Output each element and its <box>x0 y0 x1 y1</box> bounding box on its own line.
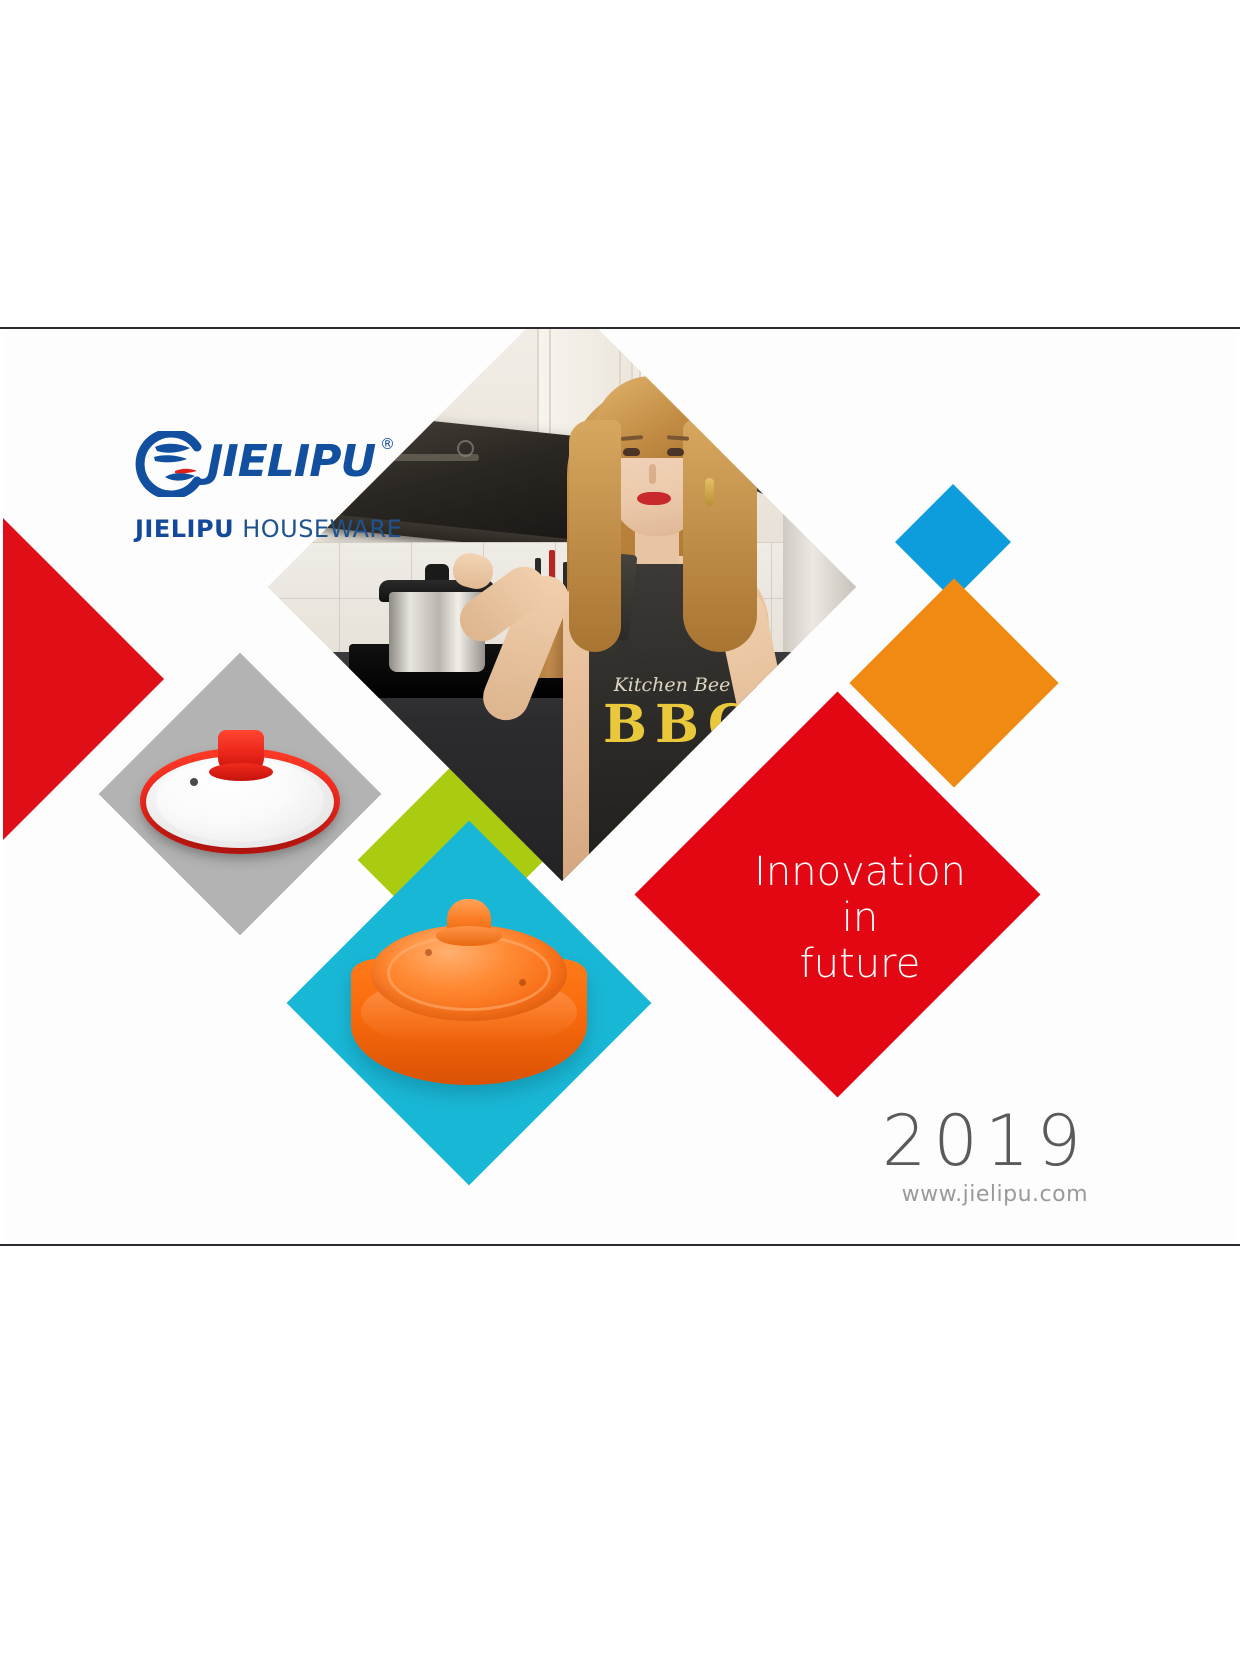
slogan-text: Innovation in future <box>730 849 990 987</box>
photo-model-eye <box>623 448 640 456</box>
page-left-margin <box>0 329 3 1244</box>
photo-wall-decor-red-pan-handle <box>729 402 783 427</box>
company-website: www.jielipu.com <box>902 1182 1088 1208</box>
photo-model-nose <box>649 464 656 484</box>
cover-artboard: Kitchen Bee BBC Innovation in future <box>0 327 1240 1246</box>
brand-logo-block: JIELIPU ® JIELIPU HOUSEWARE <box>135 431 435 543</box>
silicone-lid-knob <box>447 899 491 937</box>
brand-tagline-category: HOUSEWARE <box>234 515 402 543</box>
slogan-line-2: in <box>730 895 990 941</box>
silicone-collapsible-lid-product <box>329 863 609 1143</box>
silicone-lid-inner-ring <box>387 935 551 1011</box>
glass-lid-knob <box>218 730 264 774</box>
registered-trademark-icon: ® <box>380 435 395 453</box>
photo-model-earring <box>705 478 714 506</box>
photo-model-hair-left <box>569 420 621 652</box>
glass-lid-steam-vent <box>190 778 198 786</box>
brand-wordmark: JIELIPU <box>207 433 375 491</box>
globe-swoosh-icon <box>135 431 207 497</box>
tempered-glass-lid-product <box>132 686 348 902</box>
photo-apron-script-text: Kitchen Bee <box>607 672 737 698</box>
photo-model-hair-right <box>683 420 757 652</box>
photo-apron-letters-text: BBC <box>603 696 745 754</box>
photo-range-hood-knob <box>457 440 474 457</box>
product-diamond-silicone-lid <box>287 821 652 1186</box>
catalog-cover-page: Kitchen Bee BBC Innovation in future <box>0 0 1240 1653</box>
catalog-year: 2019 <box>882 1104 1088 1178</box>
photo-cabinet <box>741 327 837 492</box>
silicone-lid-steam-vent <box>425 949 432 956</box>
brand-logo-mark: JIELIPU ® <box>135 431 417 497</box>
slogan-line-1: Innovation <box>730 849 990 895</box>
slogan-line-3: future <box>730 941 990 987</box>
silicone-lid-steam-vent <box>519 979 526 986</box>
brand-tagline-name: JIELIPU <box>135 515 234 543</box>
photo-model-lips <box>637 492 671 505</box>
brand-tagline: JIELIPU HOUSEWARE <box>135 515 435 543</box>
photo-model-eye <box>667 448 684 456</box>
